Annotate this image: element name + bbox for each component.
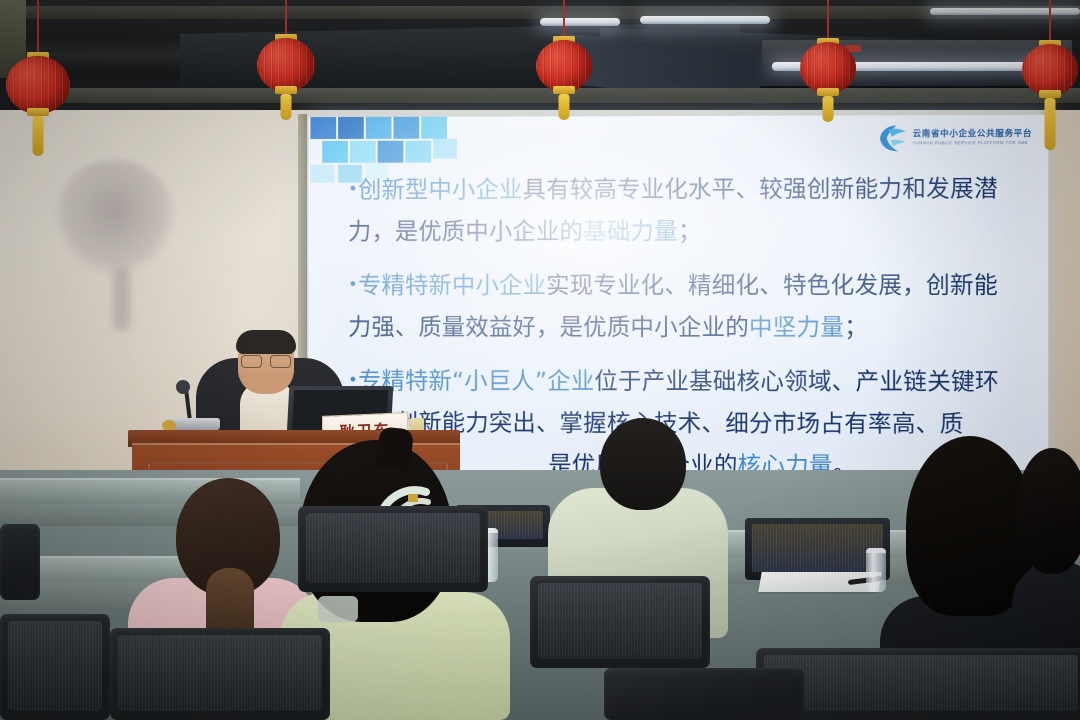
water-bottle-right	[866, 548, 886, 592]
lantern-1-body	[6, 56, 70, 114]
fluorescent-tube-2	[540, 18, 620, 26]
slide-logo: 云南省中小企业公共服务平台 YUNNAN PUBLIC SERVICE PLAT…	[877, 123, 1032, 154]
chair-row-front-center	[604, 668, 804, 720]
speaker-hair	[236, 330, 296, 354]
chair-mesh-mid-2	[538, 583, 702, 659]
chair-mesh-back-1	[306, 513, 480, 583]
lantern-5-body	[1022, 44, 1078, 96]
ceiling-beam-lower	[0, 88, 1080, 103]
person-sage-head	[600, 418, 686, 510]
lantern-4-body	[800, 42, 856, 94]
lantern-3-cap-bottom	[553, 86, 575, 94]
lantern-3-tassel	[559, 94, 570, 120]
face-mask-strap	[318, 596, 358, 622]
chair-row-mid-1	[110, 628, 330, 720]
chair-row-back-left-edge	[0, 524, 40, 600]
person-farright-head	[1016, 448, 1080, 574]
chair-row-back-1	[298, 506, 488, 592]
lantern-1-ribs	[6, 56, 70, 114]
slide-bullet-1: •创新型中小企业具有较高专业化水平、较强创新能力和发展潜力，是优质中小企业的基础…	[348, 167, 1020, 252]
phoenix-wing-icon	[877, 123, 907, 153]
lantern-1-tassel	[33, 116, 44, 156]
speaker-glasses	[240, 355, 292, 366]
slide-logo-text: 云南省中小企业公共服务平台 YUNNAN PUBLIC SERVICE PLAT…	[913, 130, 1033, 146]
lantern-4-cap-bottom	[817, 88, 839, 96]
bullet-1-highlight: 创新型中小企业	[358, 175, 522, 203]
fluorescent-tube-4	[930, 8, 1080, 15]
lantern-1-cap-bottom	[27, 108, 49, 116]
lantern-3-body	[536, 40, 592, 92]
chair-mesh-front-left	[8, 621, 102, 711]
lantern-5-ribs	[1022, 44, 1078, 96]
bullet-2-highlight-2: 中坚力量	[749, 313, 844, 341]
bullet-2-highlight: 专精特新中小企业	[358, 271, 546, 299]
lantern-2-cap-bottom	[275, 86, 297, 94]
logo-english-text: YUNNAN PUBLIC SERVICE PLATFORM FOR SME	[913, 141, 1033, 146]
lantern-5-tassel	[1045, 98, 1056, 150]
person-green-hair-tuft	[376, 426, 414, 469]
microphone-head	[176, 380, 190, 394]
chair-row-front-right	[756, 648, 1080, 720]
bullet-1-tail: ；	[678, 217, 702, 245]
lantern-4-tassel	[823, 96, 834, 122]
conference-room-photo: 云南省中小企业公共服务平台 YUNNAN PUBLIC SERVICE PLAT…	[0, 0, 1080, 720]
lantern-shadow-on-wall	[55, 160, 175, 275]
lantern-2-ribs	[257, 38, 315, 92]
logo-chinese-text: 云南省中小企业公共服务平台	[913, 130, 1033, 139]
chair-row-front-left	[0, 614, 110, 720]
lantern-tassel-shadow	[113, 268, 130, 330]
bullet-marker-1: •	[348, 180, 358, 200]
fluorescent-tube-3	[640, 16, 770, 24]
lantern-2-tassel	[281, 94, 292, 120]
lantern-3-ribs	[536, 40, 592, 92]
lantern-2-body	[257, 38, 315, 92]
chair-mesh-mid-1	[118, 635, 322, 711]
lantern-4-ribs	[800, 42, 856, 94]
bullet-1-highlight-2: 基础力量	[583, 217, 678, 245]
chair-row-mid-2	[530, 576, 710, 668]
ceiling-beam-upper	[0, 6, 1080, 19]
audience-laptop-screen-back	[752, 524, 883, 572]
chair-mesh-front-right	[764, 655, 1078, 711]
lantern-5-cap-bottom	[1039, 90, 1061, 98]
bullet-marker-2: •	[348, 275, 358, 295]
bullet-2-tail: ；	[844, 313, 868, 341]
